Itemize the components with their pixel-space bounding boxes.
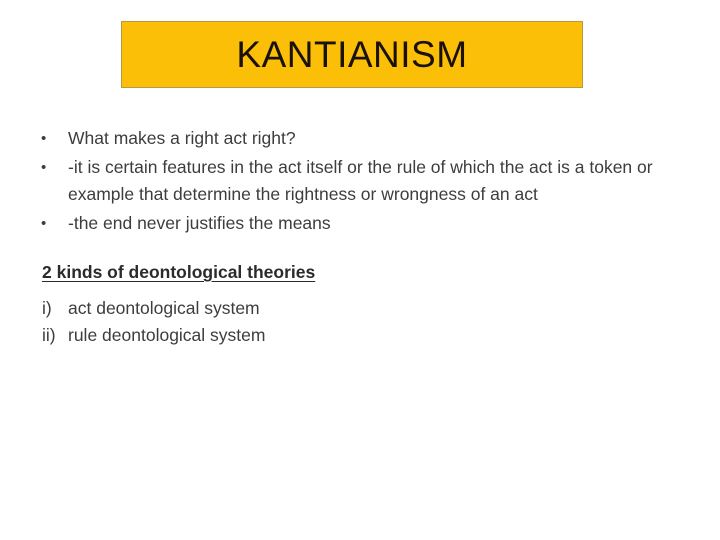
bullet-dot-icon: • (41, 154, 46, 181)
numbered-list-marker: ii) (42, 322, 66, 349)
spacer (36, 285, 700, 295)
numbered-list-item: ii) rule deontological system (36, 322, 700, 349)
numbered-list-text: act deontological system (68, 298, 260, 318)
list-item: • -it is certain features in the act its… (36, 154, 700, 208)
list-item-text: -it is certain features in the act itsel… (68, 154, 700, 208)
list-item-text: What makes a right act right? (68, 125, 700, 152)
slide-body: • What makes a right act right? • -it is… (36, 125, 700, 349)
slide-canvas: KANTIANISM • What makes a right act righ… (0, 0, 720, 540)
list-item-text: -the end never justifies the means (68, 210, 700, 237)
spacer (36, 239, 700, 259)
bullet-dot-icon: • (41, 210, 46, 237)
list-item: • What makes a right act right? (36, 125, 700, 152)
slide-title-banner: KANTIANISM (121, 21, 583, 88)
section-heading: 2 kinds of deontological theories (42, 259, 315, 285)
numbered-list-item: i) act deontological system (36, 295, 700, 322)
list-item: • -the end never justifies the means (36, 210, 700, 237)
page-title: KANTIANISM (236, 36, 467, 73)
bullet-dot-icon: • (41, 125, 46, 152)
numbered-list-marker: i) (42, 295, 66, 322)
numbered-list-text: rule deontological system (68, 325, 265, 345)
section-heading-wrap: 2 kinds of deontological theories (36, 259, 700, 285)
